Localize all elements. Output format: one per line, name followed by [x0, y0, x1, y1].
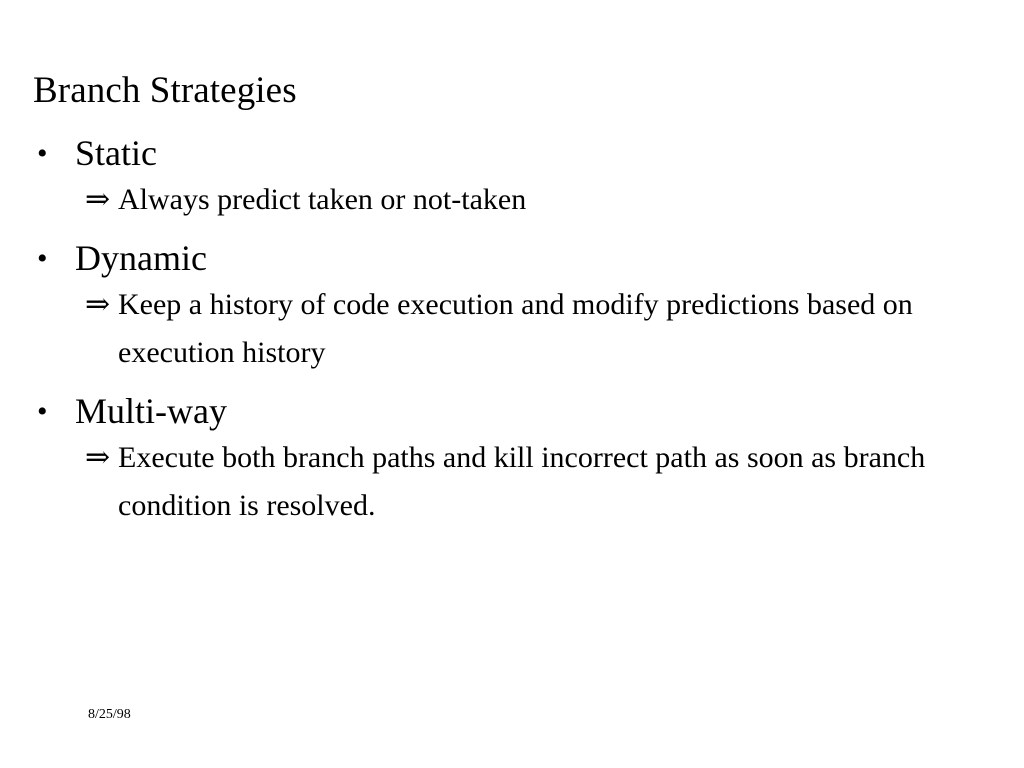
spacer — [33, 377, 983, 389]
sub-bullet-text-multiway-1: Execute both branch paths and kill incor… — [118, 434, 983, 530]
bullet-group-multiway: • Multi-way ⇒ Execute both branch paths … — [33, 389, 983, 530]
double-arrow-icon: ⇒ — [85, 281, 118, 329]
sub-bullet-item-dynamic-1: ⇒ Keep a history of code execution and m… — [33, 281, 983, 377]
slide: Branch Strategies • Static ⇒ Always pred… — [0, 0, 1024, 768]
sub-bullet-item-multiway-1: ⇒ Execute both branch paths and kill inc… — [33, 434, 983, 530]
bullet-item-dynamic: • Dynamic — [33, 236, 983, 281]
bullet-dot-icon: • — [33, 131, 75, 176]
page-title: Branch Strategies — [33, 69, 973, 113]
sub-bullet-text-dynamic-1: Keep a history of code execution and mod… — [118, 281, 983, 377]
bullet-label-static: Static — [75, 131, 983, 176]
double-arrow-icon: ⇒ — [85, 434, 118, 482]
bullet-item-static: • Static — [33, 131, 983, 176]
bullet-dot-icon: • — [33, 236, 75, 281]
footer-date: 8/25/98 — [88, 706, 131, 723]
slide-body: • Static ⇒ Always predict taken or not-t… — [33, 131, 983, 530]
bullet-group-dynamic: • Dynamic ⇒ Keep a history of code execu… — [33, 236, 983, 377]
bullet-label-dynamic: Dynamic — [75, 236, 983, 281]
bullet-label-multiway: Multi-way — [75, 389, 983, 434]
double-arrow-icon: ⇒ — [85, 176, 118, 224]
bullet-item-multiway: • Multi-way — [33, 389, 983, 434]
sub-bullet-item-static-1: ⇒ Always predict taken or not-taken — [33, 176, 983, 224]
bullet-group-static: • Static ⇒ Always predict taken or not-t… — [33, 131, 983, 224]
spacer — [33, 224, 983, 236]
bullet-dot-icon: • — [33, 389, 75, 434]
sub-bullet-text-static-1: Always predict taken or not-taken — [118, 176, 983, 224]
